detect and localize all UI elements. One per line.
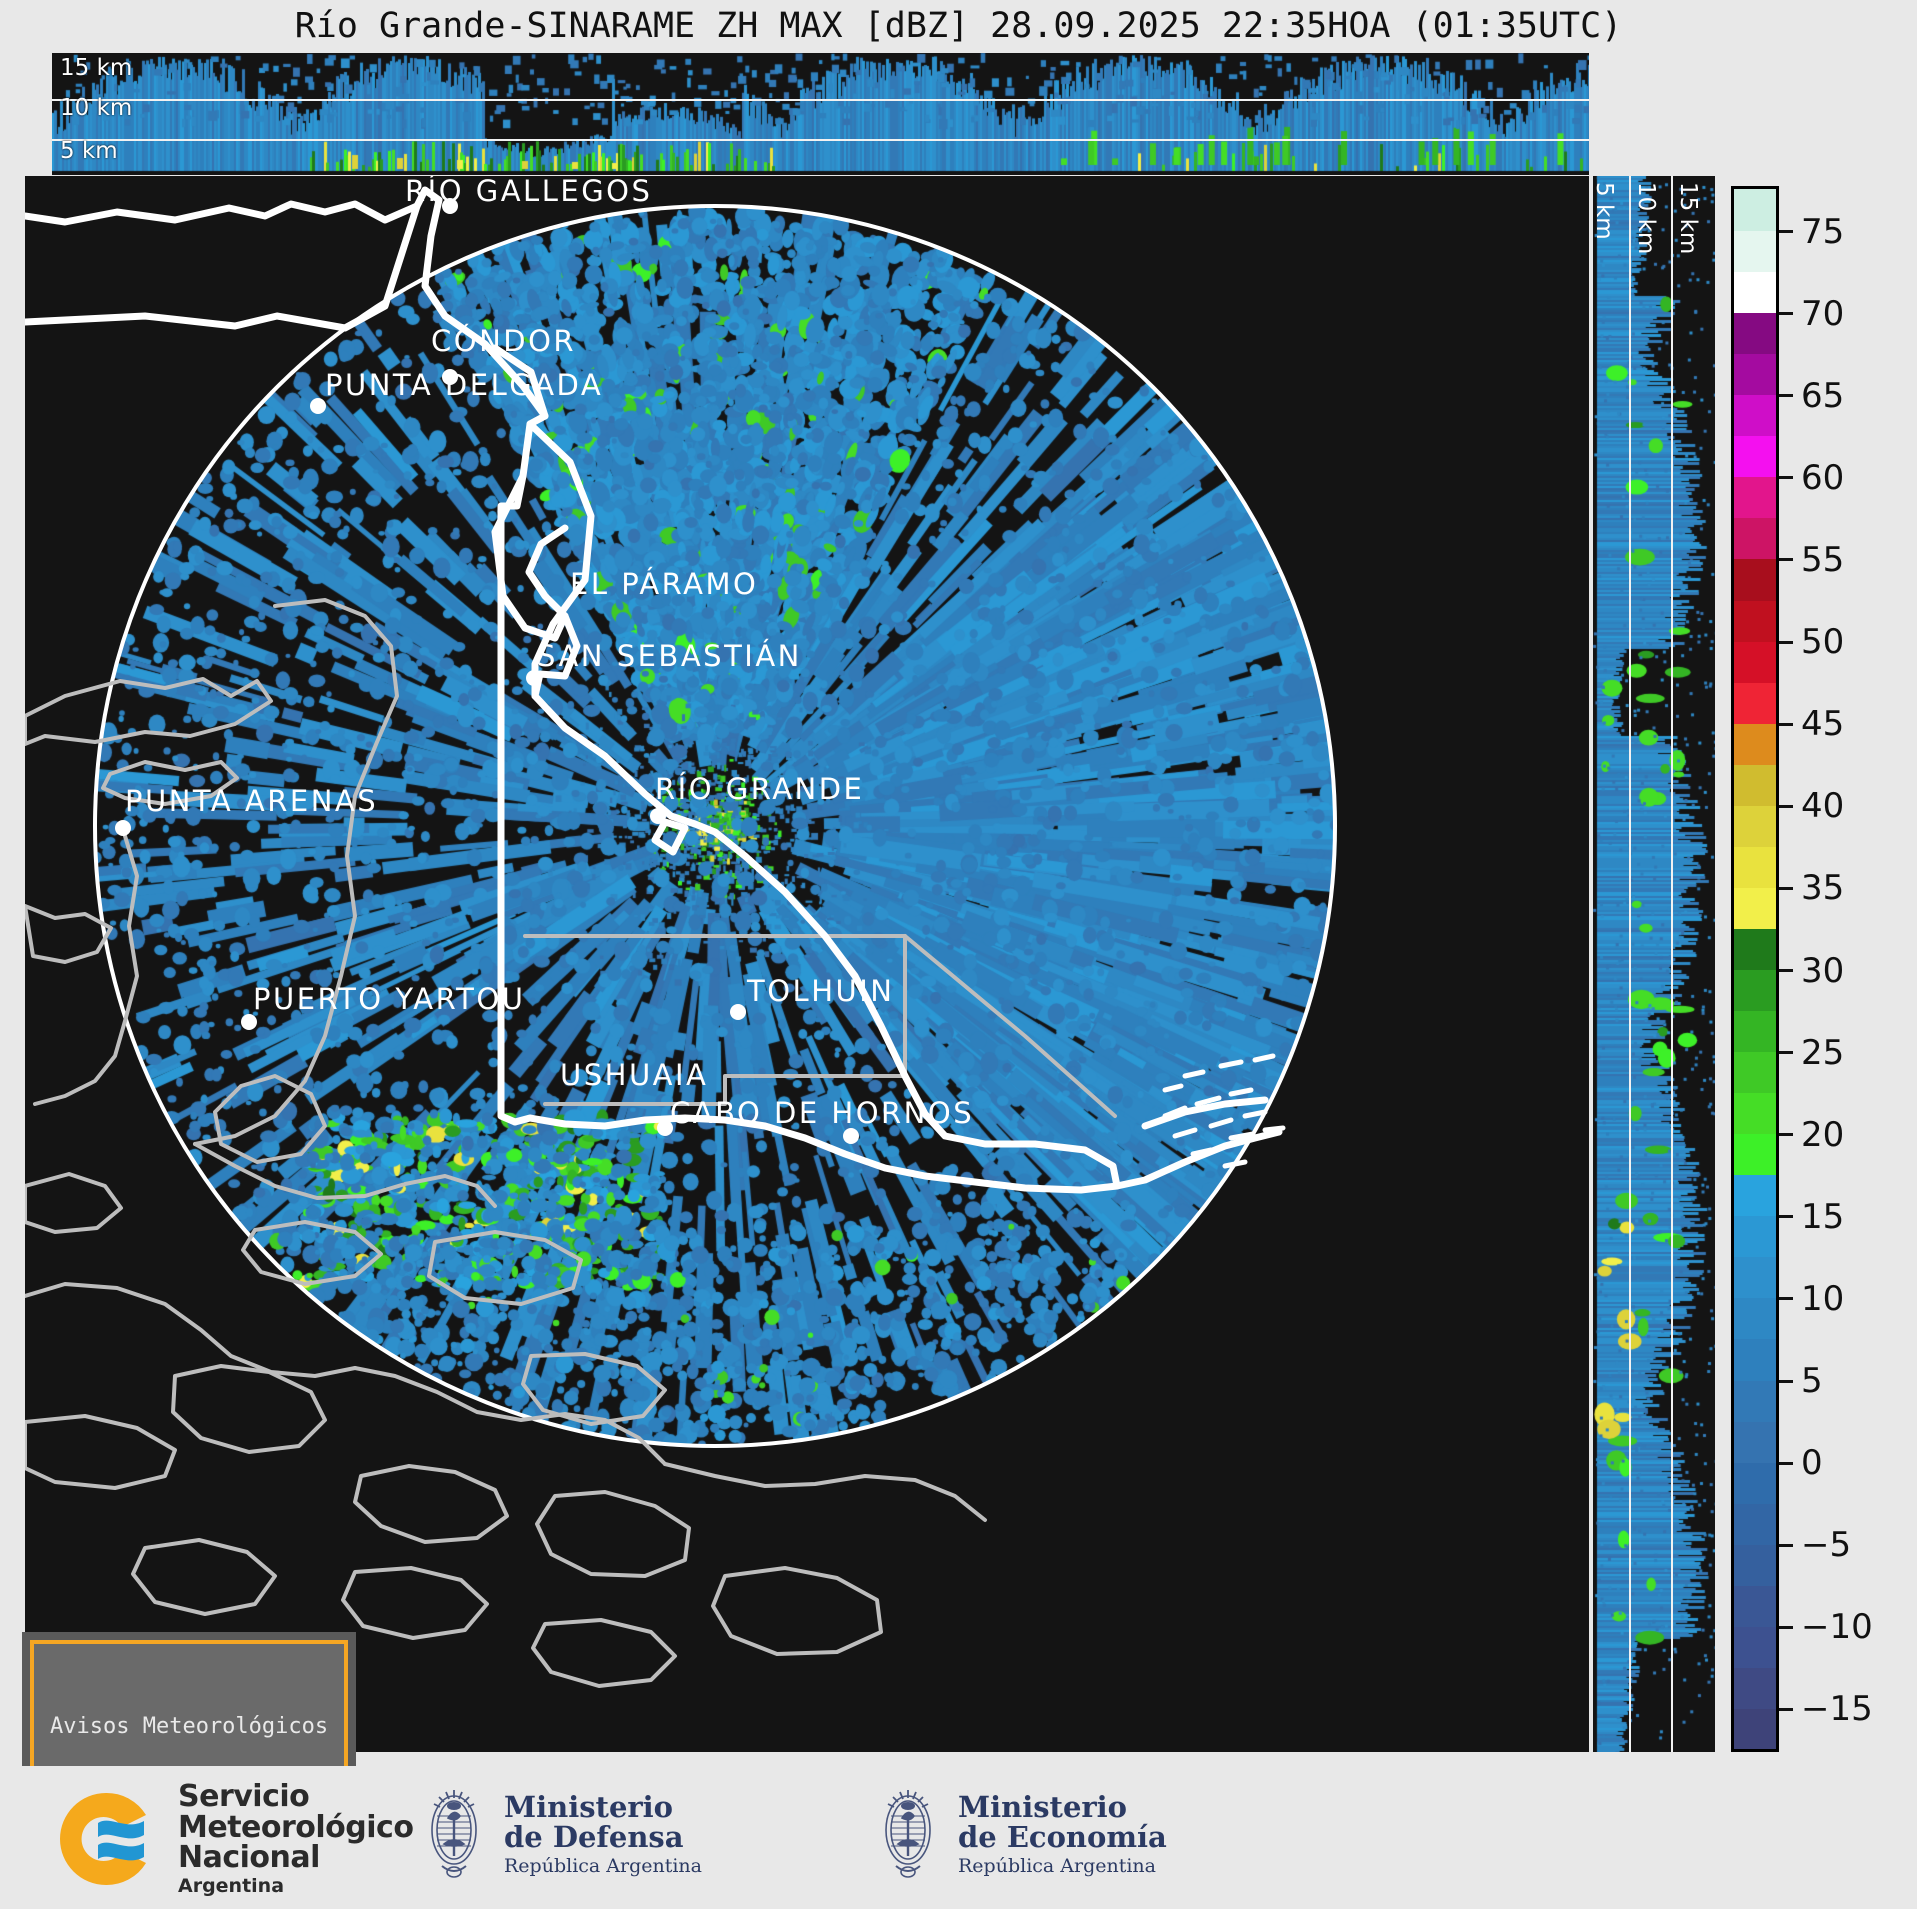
colorbar-tick-label: 35 bbox=[1801, 868, 1844, 908]
colorbar-tick-label: 65 bbox=[1801, 376, 1844, 416]
right-xsec-label-10km: 10 km bbox=[1633, 182, 1659, 254]
aviso-line-1: Avisos Meteorológicos bbox=[50, 1712, 328, 1742]
city-dot-tolhuin bbox=[730, 1004, 746, 1020]
defensa-line-3: República Argentina bbox=[504, 1856, 702, 1876]
colorbar-segment bbox=[1734, 846, 1776, 888]
colorbar-segment bbox=[1734, 1462, 1776, 1504]
colorbar-segment bbox=[1734, 558, 1776, 600]
colorbar-segment bbox=[1734, 1708, 1776, 1750]
colorbar-segment bbox=[1734, 1092, 1776, 1134]
colorbar-segment bbox=[1734, 435, 1776, 477]
defensa-line-2: de Defensa bbox=[504, 1822, 702, 1853]
colorbar-segment bbox=[1734, 1667, 1776, 1709]
city-dot-ushuaia bbox=[657, 1120, 673, 1136]
colorbar-segment bbox=[1734, 1256, 1776, 1298]
colorbar-segment bbox=[1734, 1297, 1776, 1339]
colorbar-segment bbox=[1734, 1503, 1776, 1545]
colorbar-segment bbox=[1734, 1051, 1776, 1093]
colorbar-tick-label: 10 bbox=[1801, 1279, 1844, 1319]
logo-servicio-meteorologico-nacional: Servicio Meteorológico Nacional Argentin… bbox=[48, 1782, 413, 1896]
colorbar-segment bbox=[1734, 928, 1776, 970]
colorbar-segment bbox=[1734, 312, 1776, 354]
colorbar-segment bbox=[1734, 969, 1776, 1011]
height-gridline-right-5km bbox=[1629, 176, 1631, 1752]
smn-line-2: Meteorológico bbox=[178, 1813, 413, 1844]
colorbar-segment bbox=[1734, 1010, 1776, 1052]
reflectivity-colorbar bbox=[1731, 186, 1779, 1752]
colorbar-segment bbox=[1734, 1585, 1776, 1627]
economia-line-2: de Economía bbox=[958, 1822, 1167, 1853]
city-dot-punta-delgada bbox=[310, 398, 326, 414]
logo-ministerio-de-economia: Ministerio de Economía República Argenti… bbox=[872, 1780, 1167, 1888]
city-dot-san-sebastian bbox=[526, 670, 542, 686]
colorbar-tick bbox=[1779, 1626, 1793, 1629]
defensa-line-1: Ministerio bbox=[504, 1792, 702, 1823]
colorbar-tick-label: 75 bbox=[1801, 212, 1844, 252]
colorbar-segment bbox=[1734, 600, 1776, 642]
city-dot-puerto-yartou bbox=[241, 1014, 257, 1030]
colorbar-tick bbox=[1779, 1215, 1793, 1218]
page-title: Río Grande-SINARAME ZH MAX [dBZ] 28.09.2… bbox=[0, 6, 1917, 46]
colorbar-segment bbox=[1734, 1544, 1776, 1586]
footer-logos: Servicio Meteorológico Nacional Argentin… bbox=[0, 1766, 1917, 1909]
colorbar-tick-label: 50 bbox=[1801, 622, 1844, 662]
colorbar-segment bbox=[1734, 723, 1776, 765]
colorbar-tick-label: 70 bbox=[1801, 294, 1844, 334]
smn-line-3: Nacional bbox=[178, 1843, 413, 1874]
colorbar-tick-label: 0 bbox=[1801, 1443, 1823, 1483]
colorbar-tick-label: 60 bbox=[1801, 458, 1844, 498]
colorbar-segment bbox=[1734, 353, 1776, 395]
colorbar-tick bbox=[1779, 312, 1793, 315]
top-cross-section-panel bbox=[52, 53, 1589, 175]
height-gridline-5km bbox=[52, 139, 1589, 141]
right-cross-section-panel bbox=[1593, 176, 1715, 1752]
colorbar-tick-label: 25 bbox=[1801, 1033, 1844, 1073]
colorbar-tick-label: 55 bbox=[1801, 540, 1844, 580]
colorbar-segment bbox=[1734, 1626, 1776, 1668]
colorbar-tick-label: 40 bbox=[1801, 786, 1844, 826]
colorbar-tick bbox=[1779, 1051, 1793, 1054]
colorbar-tick bbox=[1779, 1297, 1793, 1300]
colorbar-tick-label: −10 bbox=[1801, 1607, 1873, 1647]
top-xsec-label-10km: 10 km bbox=[60, 95, 132, 121]
colorbar-tick bbox=[1779, 476, 1793, 479]
economia-logo-text: Ministerio de Economía República Argenti… bbox=[958, 1792, 1167, 1877]
city-dot-punta-arenas bbox=[115, 820, 131, 836]
colorbar-segment bbox=[1734, 230, 1776, 272]
logo-ministerio-de-defensa: Ministerio de Defensa República Argentin… bbox=[418, 1780, 702, 1888]
economia-line-3: República Argentina bbox=[958, 1856, 1167, 1876]
border-white bbox=[25, 190, 1279, 1190]
height-gridline-right-10km bbox=[1671, 176, 1673, 1752]
colorbar-tick-label: 20 bbox=[1801, 1115, 1844, 1155]
smn-logo-text: Servicio Meteorológico Nacional Argentin… bbox=[178, 1782, 413, 1896]
colorbar-tick-label: 15 bbox=[1801, 1197, 1844, 1237]
city-dot-condor bbox=[442, 369, 458, 385]
right-cross-section-canvas bbox=[1593, 176, 1715, 1752]
range-ring bbox=[95, 206, 1335, 1446]
colorbar-tick bbox=[1779, 1133, 1793, 1136]
argentina-coat-of-arms-icon-2 bbox=[872, 1780, 944, 1888]
colorbar-tick bbox=[1779, 230, 1793, 233]
top-xsec-label-5km: 5 km bbox=[60, 138, 118, 164]
colorbar-tick-label: 5 bbox=[1801, 1361, 1823, 1401]
colorbar-segment bbox=[1734, 189, 1776, 231]
colorbar-segment bbox=[1734, 764, 1776, 806]
height-gridline-10km bbox=[52, 99, 1589, 101]
smn-line-1: Servicio bbox=[178, 1782, 413, 1813]
argentina-coat-of-arms-icon bbox=[418, 1780, 490, 1888]
economia-line-1: Ministerio bbox=[958, 1792, 1167, 1823]
colorbar-segment bbox=[1734, 1338, 1776, 1380]
colorbar-tick-label: −15 bbox=[1801, 1689, 1873, 1729]
colorbar-tick bbox=[1779, 641, 1793, 644]
colorbar-tick bbox=[1779, 1708, 1793, 1711]
map-vector-overlay bbox=[25, 176, 1589, 1752]
colorbar-segment bbox=[1734, 271, 1776, 313]
right-xsec-label-15km: 15 km bbox=[1675, 182, 1701, 254]
smn-logo-icon bbox=[48, 1787, 166, 1891]
colorbar-segment bbox=[1734, 476, 1776, 518]
colorbar-tick bbox=[1779, 1380, 1793, 1383]
colorbar-segment bbox=[1734, 1215, 1776, 1257]
top-cross-section-canvas bbox=[52, 53, 1589, 175]
colorbar-segment bbox=[1734, 394, 1776, 436]
colorbar-tick-label: 45 bbox=[1801, 704, 1844, 744]
city-dot-cabo-de-hornos bbox=[843, 1128, 859, 1144]
colorbar-segment bbox=[1734, 517, 1776, 559]
colorbar-tick bbox=[1779, 1462, 1793, 1465]
colorbar-tick bbox=[1779, 1544, 1793, 1547]
colorbar-tick-label: −5 bbox=[1801, 1525, 1851, 1565]
colorbar-tick bbox=[1779, 805, 1793, 808]
top-xsec-label-15km: 15 km bbox=[60, 55, 132, 81]
colorbar-tick bbox=[1779, 887, 1793, 890]
city-dot-rio-grande bbox=[650, 808, 666, 824]
colorbar-segment bbox=[1734, 1421, 1776, 1463]
colorbar-segment bbox=[1734, 1380, 1776, 1422]
colorbar-tick-axis: 757065605550454035302520151050−5−10−15 bbox=[1779, 186, 1909, 1752]
colorbar-tick-label: 30 bbox=[1801, 951, 1844, 991]
right-xsec-label-5km: 5 km bbox=[1591, 182, 1617, 240]
colorbar-segment bbox=[1734, 805, 1776, 847]
coastline-grey bbox=[25, 600, 1115, 1686]
colorbar-segment bbox=[1734, 682, 1776, 724]
colorbar-tick bbox=[1779, 394, 1793, 397]
colorbar-tick bbox=[1779, 558, 1793, 561]
colorbar-tick bbox=[1779, 723, 1793, 726]
smn-line-4: Argentina bbox=[178, 1877, 413, 1896]
defensa-logo-text: Ministerio de Defensa República Argentin… bbox=[504, 1792, 702, 1877]
radar-plan-view-map[interactable]: RÍO GALLEGOS CÓNDOR PUNTA DELGADA EL PÁR… bbox=[25, 176, 1589, 1752]
colorbar-segment bbox=[1734, 1133, 1776, 1175]
colorbar-segment bbox=[1734, 887, 1776, 929]
city-dot-rio-gallegos bbox=[442, 198, 458, 214]
colorbar-tick bbox=[1779, 969, 1793, 972]
colorbar-segment bbox=[1734, 641, 1776, 683]
colorbar-segment bbox=[1734, 1174, 1776, 1216]
